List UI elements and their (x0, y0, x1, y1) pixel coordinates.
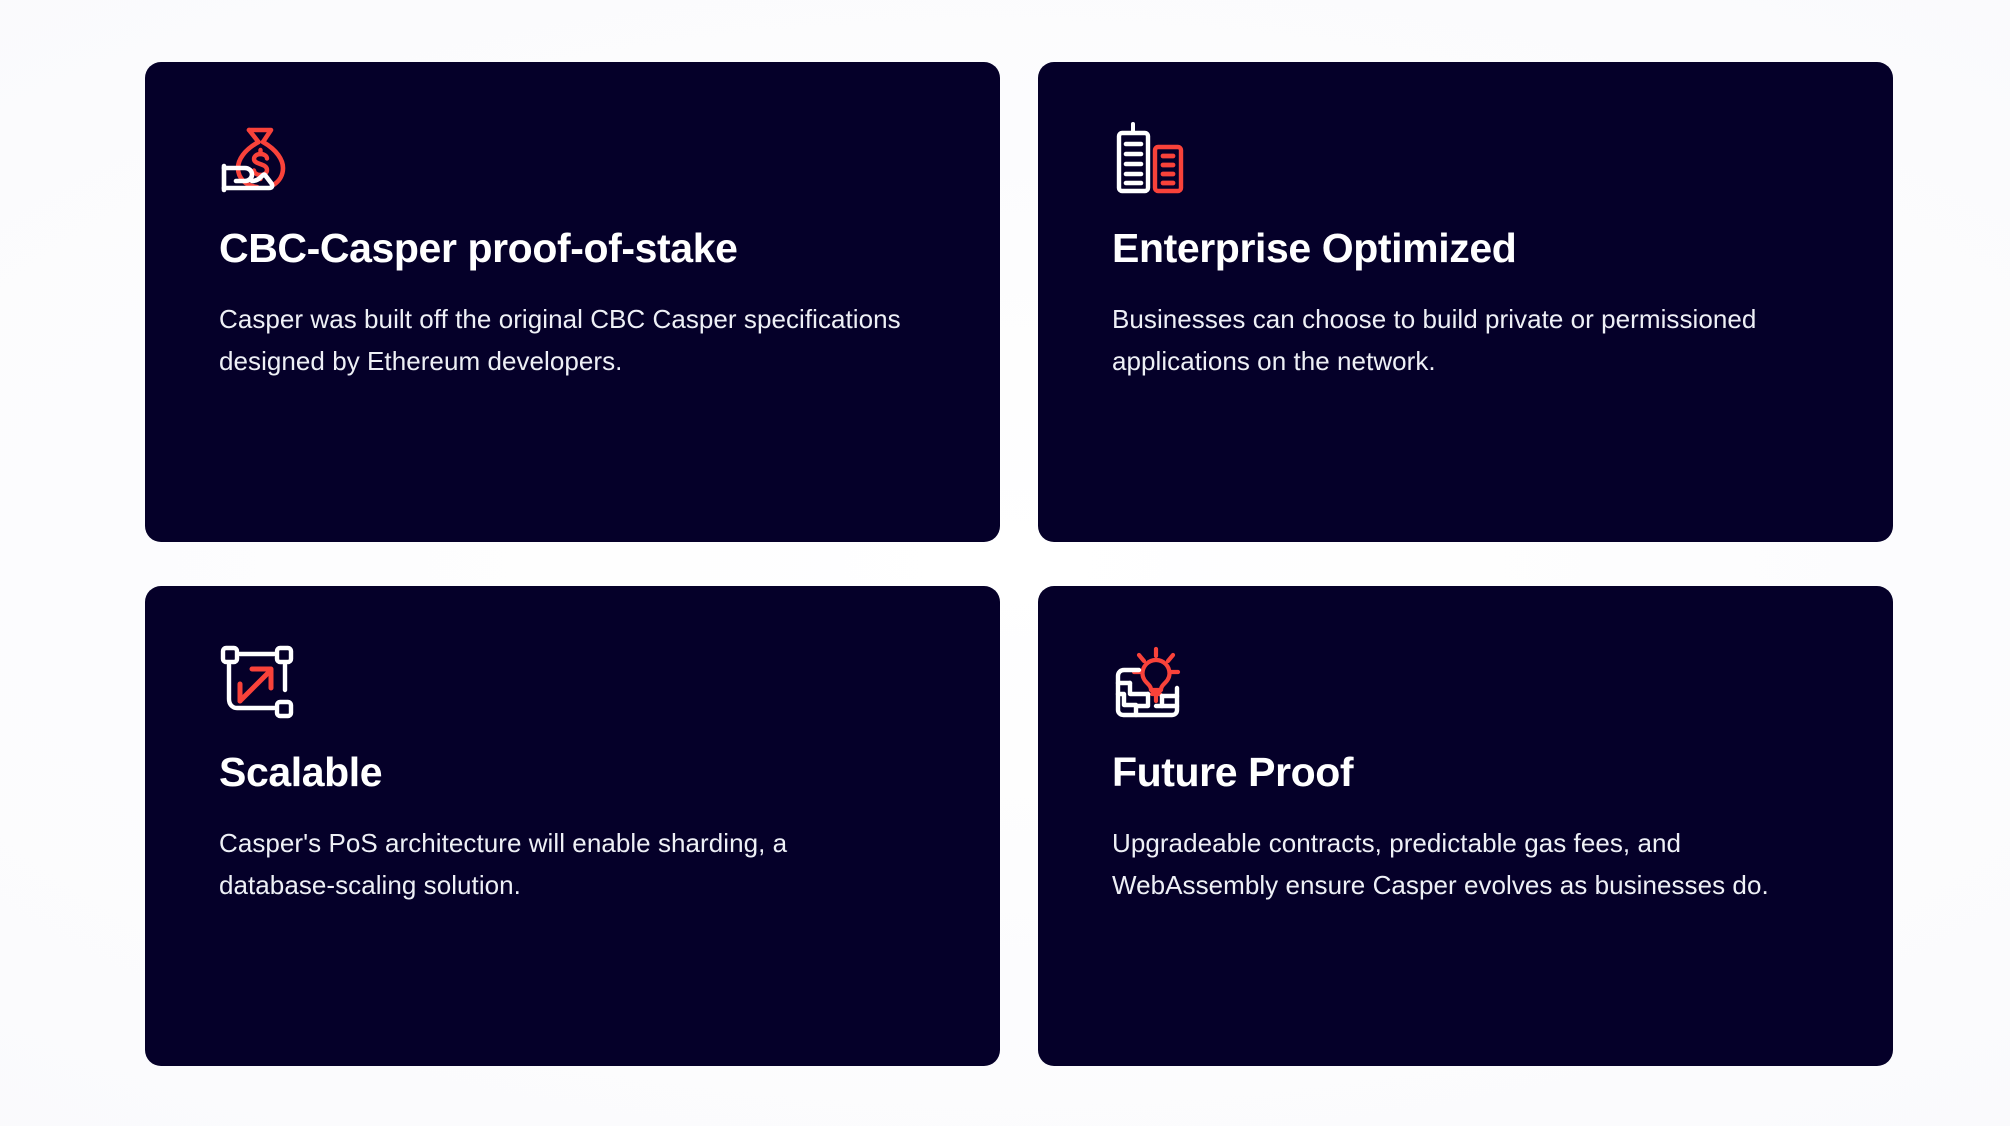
feature-card-body: Upgradeable contracts, predictable gas f… (1112, 822, 1802, 906)
feature-card-title: CBC-Casper proof-of-stake (219, 226, 926, 272)
features-section: CBC-Casper proof-of-stake Casper was bui… (0, 0, 2010, 1126)
feature-card-body: Casper's PoS architecture will enable sh… (219, 822, 909, 906)
lightbulb-circuit-icon (1112, 644, 1188, 720)
feature-card-title: Scalable (219, 750, 926, 796)
feature-card-body: Businesses can choose to build private o… (1112, 298, 1802, 382)
office-buildings-icon (1112, 120, 1188, 196)
money-bag-in-hand-icon (219, 120, 295, 196)
feature-card-future-proof[interactable]: Future Proof Upgradeable contracts, pred… (1038, 586, 1893, 1066)
feature-card-title: Enterprise Optimized (1112, 226, 1819, 272)
scale-arrow-icon (219, 644, 295, 720)
feature-card-grid: CBC-Casper proof-of-stake Casper was bui… (145, 62, 1872, 1065)
feature-card-cbc-casper[interactable]: CBC-Casper proof-of-stake Casper was bui… (145, 62, 1000, 542)
feature-card-scalable[interactable]: Scalable Casper's PoS architecture will … (145, 586, 1000, 1066)
feature-card-title: Future Proof (1112, 750, 1819, 796)
feature-card-body: Casper was built off the original CBC Ca… (219, 298, 909, 382)
feature-card-enterprise-optimized[interactable]: Enterprise Optimized Businesses can choo… (1038, 62, 1893, 542)
